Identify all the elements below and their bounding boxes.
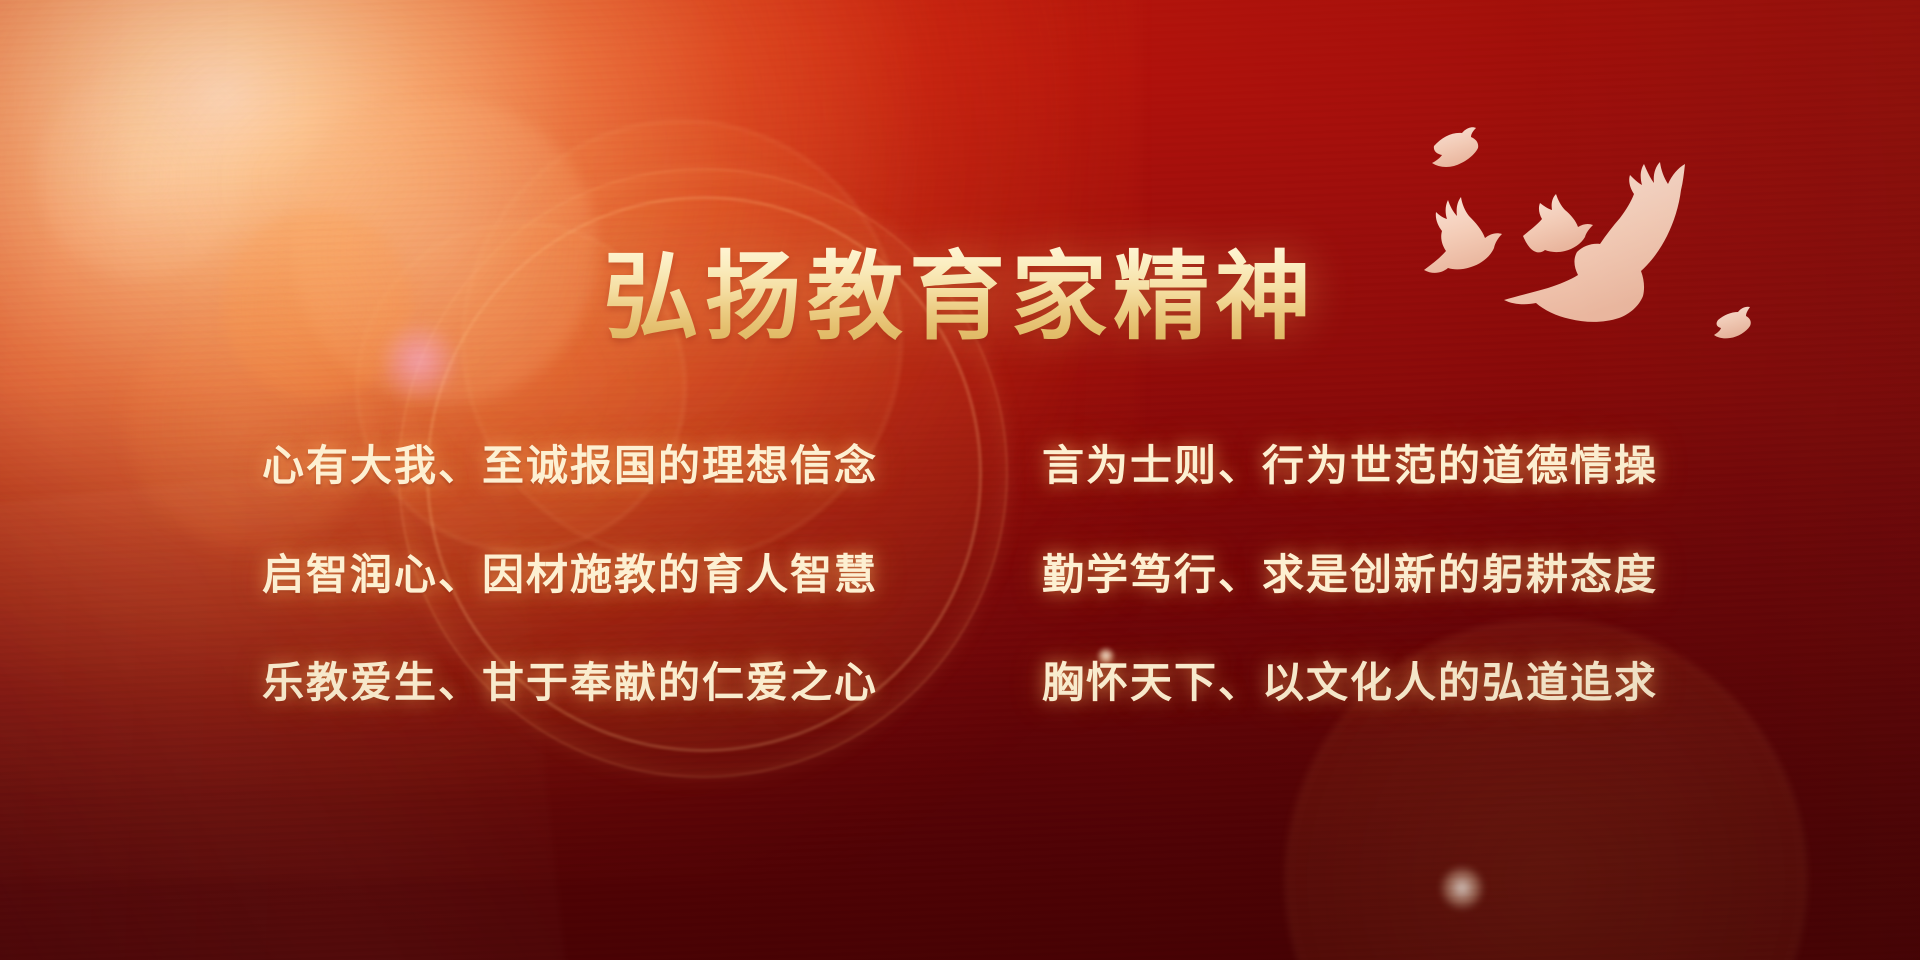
slogan-row2-right: 勤学笃行、求是创新的躬耕态度: [1042, 549, 1658, 602]
page-title: 弘扬教育家精神: [603, 245, 1317, 349]
slogan-row3-left: 乐教爱生、甘于奉献的仁爱之心: [262, 657, 878, 710]
education-spirit-banner: 弘扬教育家精神 心有大我、至诚报国的理想信念 言为士则、行为世范的道德情操 启智…: [0, 0, 1920, 960]
banner-title-wrap: 弘扬教育家精神: [0, 245, 1920, 349]
slogan-row1-right: 言为士则、行为世范的道德情操: [1042, 440, 1658, 493]
slogan-row1-left: 心有大我、至诚报国的理想信念: [262, 440, 878, 493]
slogan-row3-right: 胸怀天下、以文化人的弘道追求: [1042, 657, 1658, 710]
slogan-row2-left: 启智润心、因材施教的育人智慧: [262, 549, 878, 602]
slogan-grid: 心有大我、至诚报国的理想信念 言为士则、行为世范的道德情操 启智润心、因材施教的…: [0, 440, 1920, 710]
